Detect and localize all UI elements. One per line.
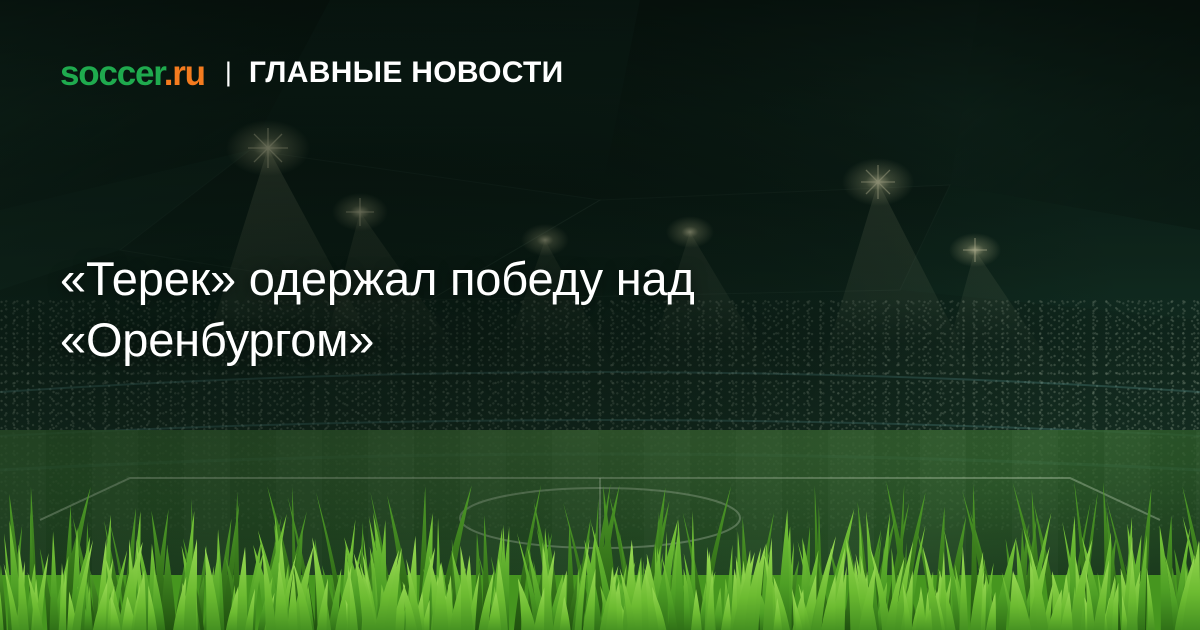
page-title: «Терек» одержал победу над «Оренбургом»: [60, 248, 960, 370]
soccer-ru-logo[interactable]: soccer.ru: [60, 56, 205, 91]
pitch: [0, 430, 1200, 630]
header-separator: |: [225, 59, 232, 86]
headline-line-2: «Оренбургом»: [60, 309, 960, 370]
logo-tld-text: .ru: [164, 54, 205, 93]
header-title: ГЛАВНЫЕ НОВОСТИ: [249, 58, 564, 88]
share-card: soccer.ru | ГЛАВНЫЕ НОВОСТИ «Терек» одер…: [0, 0, 1200, 630]
headline-line-1: «Терек» одержал победу над: [60, 248, 960, 309]
foreground-grass: [0, 455, 1200, 630]
pitch-stripes: [0, 430, 1200, 630]
logo-brand-text: soccer: [60, 54, 164, 93]
site-header: soccer.ru | ГЛАВНЫЕ НОВОСТИ: [60, 52, 563, 94]
